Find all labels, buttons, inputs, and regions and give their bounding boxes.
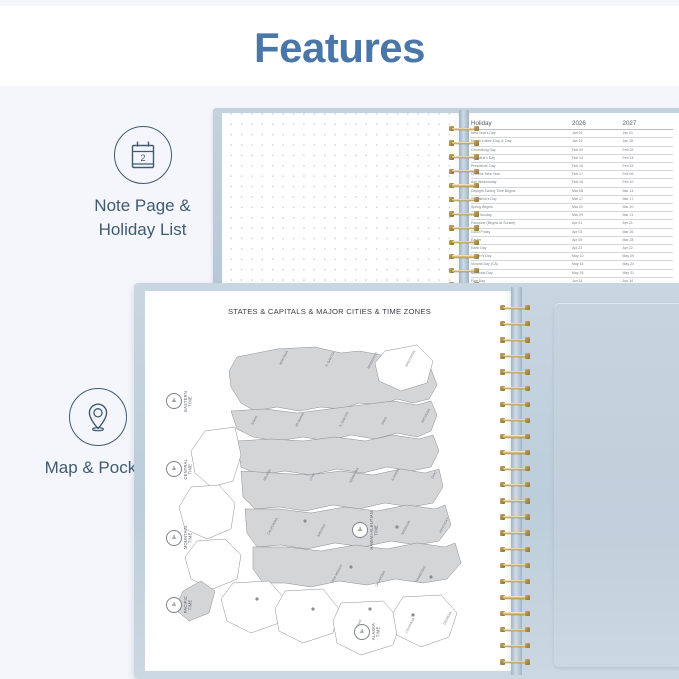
holiday-date-2027: Feb 10: [623, 179, 674, 187]
holiday-date-2027: Mar 26: [623, 228, 674, 236]
holiday-date-2027: Jan 18: [623, 138, 674, 146]
holiday-date-2027: Mar 20: [623, 204, 674, 212]
map-title: STATES & CAPITALS & MAJOR CITIES & TIME …: [145, 307, 514, 316]
holiday-name: Ash Wednesday: [471, 179, 572, 187]
holiday-date-2027: Mar 17: [623, 195, 674, 203]
storage-pocket: [554, 303, 679, 667]
timezone-mountain: MOUNTAIN TIME: [166, 526, 193, 549]
holiday-date-2026: Feb 02: [572, 146, 623, 154]
clock-icon: [354, 624, 370, 640]
map-page: MONTANA N. DAKOTA MINNESOTA WISCONSIN ID…: [145, 291, 514, 671]
table-row: Groundhog DayFeb 02Feb 02: [471, 146, 673, 154]
us-map-illustration: MONTANA N. DAKOTA MINNESOTA WISCONSIN ID…: [145, 291, 514, 671]
clock-icon: [166, 597, 182, 613]
holiday-date-2027: Mar 28: [623, 236, 674, 244]
table-row: Good FridayApr 03Mar 26: [471, 228, 673, 236]
notebook-gutter: [459, 110, 469, 297]
holiday-date-2026: May 10: [572, 253, 623, 261]
holiday-name: Palm Sunday: [471, 212, 572, 220]
holiday-name: Valentine's Day: [471, 154, 572, 162]
table-row: Memorial DayMay 25May 31: [471, 269, 673, 277]
holiday-date-2027: Mar 14: [623, 187, 674, 195]
timezone-eastern: EASTERN TIME: [166, 391, 193, 412]
column-header-2027: 2027: [623, 120, 674, 130]
table-row: New Year's DayJan 01Jan 01: [471, 130, 673, 138]
feature-note-page-holiday-list: 2 Note Page & Holiday List: [65, 126, 220, 242]
page-title: Features: [0, 24, 679, 72]
timezone-label: CENTRAL TIME: [184, 459, 193, 480]
clock-icon: [166, 393, 182, 409]
calendar-icon: 2: [114, 126, 172, 184]
holiday-name: Chinese New Year: [471, 171, 572, 179]
table-header-row: Holiday 2026 2027: [471, 120, 673, 130]
timezone-label: EASTERN TIME: [184, 391, 193, 412]
table-row: St. Patrick's DayMar 17Mar 17: [471, 195, 673, 203]
holiday-date-2027: Feb 15: [623, 163, 674, 171]
holiday-date-2027: Feb 02: [623, 146, 674, 154]
column-header-holiday: Holiday: [471, 120, 572, 130]
calendar-icon-glyph: 2: [128, 139, 158, 171]
clock-icon: [166, 461, 182, 477]
holiday-date-2027: Mar 21: [623, 212, 674, 220]
map-pin-icon-glyph: [83, 400, 113, 434]
holiday-name: Memorial Day: [471, 269, 572, 277]
holiday-name: Groundhog Day: [471, 146, 572, 154]
holiday-date-2026: Jan 19: [572, 138, 623, 146]
product-feature-graphic: Features 2 Note Page & Holiday List Map …: [0, 0, 679, 679]
holiday-date-2026: Jan 01: [572, 130, 623, 138]
table-row: Martin Luther King Jr. DayJan 19Jan 18: [471, 138, 673, 146]
holiday-date-2027: May 24: [623, 261, 674, 269]
clock-icon: [352, 522, 368, 538]
calendar-icon-number: 2: [140, 153, 145, 163]
table-row: Valentine's DayFeb 14Feb 14: [471, 154, 673, 162]
table-row: Passover (Begins at Sunset)Apr 01Apr 21: [471, 220, 673, 228]
table-row: Spring BeginsMar 20Mar 20: [471, 204, 673, 212]
timezone-hawaii-aleutian: HAWAII-ALEUTIAN TIME: [352, 511, 379, 550]
holiday-name: Good Friday: [471, 228, 572, 236]
table-row: Palm SundayMar 29Mar 21: [471, 212, 673, 220]
table-row: EasterApr 05Mar 28: [471, 236, 673, 244]
holiday-name: Presidents' Day: [471, 163, 572, 171]
holiday-table-body: New Year's DayJan 01Jan 01Martin Luther …: [471, 130, 673, 294]
holiday-name: Daylight Saving Time Begins: [471, 187, 572, 195]
table-row: Earth DayApr 22Apr 22: [471, 245, 673, 253]
holiday-date-2026: Apr 01: [572, 220, 623, 228]
timezone-label: HAWAII-ALEUTIAN TIME: [370, 511, 379, 550]
holiday-name: Martin Luther King Jr. Day: [471, 138, 572, 146]
table-row: Presidents' DayFeb 16Feb 15: [471, 163, 673, 171]
timezone-label: MOUNTAIN TIME: [184, 526, 193, 549]
holiday-date-2026: Mar 08: [572, 187, 623, 195]
holiday-list-table: Holiday 2026 2027 New Year's DayJan 01Ja…: [471, 120, 673, 294]
holiday-name: Mother's Day: [471, 253, 572, 261]
holiday-date-2026: Feb 18: [572, 179, 623, 187]
holiday-date-2026: Apr 05: [572, 236, 623, 244]
holiday-date-2027: May 31: [623, 269, 674, 277]
holiday-name: Spring Begins: [471, 204, 572, 212]
notebook-note-page-holiday-list: Holiday 2026 2027 New Year's DayJan 01Ja…: [213, 108, 679, 298]
holiday-date-2026: Feb 14: [572, 154, 623, 162]
holiday-name: Passover (Begins at Sunset): [471, 220, 572, 228]
table-row: Mother's DayMay 10May 09: [471, 253, 673, 261]
notebook-map-pocket: MONTANA N. DAKOTA MINNESOTA WISCONSIN ID…: [134, 283, 679, 679]
holiday-name: New Year's Day: [471, 130, 572, 138]
dot-grid-note-page: [222, 113, 462, 294]
holiday-date-2026: Mar 20: [572, 204, 623, 212]
holiday-date-2027: Jan 01: [623, 130, 674, 138]
feature-label: Note Page & Holiday List: [65, 194, 220, 242]
table-row: Victoria Day (CA)May 18May 24: [471, 261, 673, 269]
table-row: Chinese New YearFeb 17Feb 06: [471, 171, 673, 179]
holiday-date-2026: Feb 16: [572, 163, 623, 171]
holiday-date-2027: Feb 06: [623, 171, 674, 179]
holiday-date-2027: Apr 21: [623, 220, 674, 228]
holiday-date-2026: Apr 22: [572, 245, 623, 253]
holiday-date-2026: Mar 17: [572, 195, 623, 203]
holiday-date-2026: Apr 03: [572, 228, 623, 236]
table-row: Ash WednesdayFeb 18Feb 10: [471, 179, 673, 187]
holiday-date-2027: Feb 14: [623, 154, 674, 162]
notebook-gutter: [511, 287, 522, 675]
holiday-date-2027: Apr 22: [623, 245, 674, 253]
holiday-date-2026: Mar 29: [572, 212, 623, 220]
holiday-name: Victoria Day (CA): [471, 261, 572, 269]
timezone-alaska: ALASKA TIME: [354, 623, 381, 640]
holiday-date-2027: May 09: [623, 253, 674, 261]
holiday-name: St. Patrick's Day: [471, 195, 572, 203]
column-header-2026: 2026: [572, 120, 623, 130]
clock-icon: [166, 530, 182, 546]
holiday-date-2026: May 25: [572, 269, 623, 277]
map-pin-icon: [69, 388, 127, 446]
holiday-date-2026: May 18: [572, 261, 623, 269]
table-row: Daylight Saving Time BeginsMar 08Mar 14: [471, 187, 673, 195]
timezone-label: PACIFIC TIME: [184, 596, 193, 613]
timezone-central: CENTRAL TIME: [166, 459, 193, 480]
timezone-label: ALASKA TIME: [372, 623, 381, 640]
holiday-name: Earth Day: [471, 245, 572, 253]
holiday-name: Easter: [471, 236, 572, 244]
holiday-date-2026: Feb 17: [572, 171, 623, 179]
timezone-pacific: PACIFIC TIME: [166, 596, 193, 613]
